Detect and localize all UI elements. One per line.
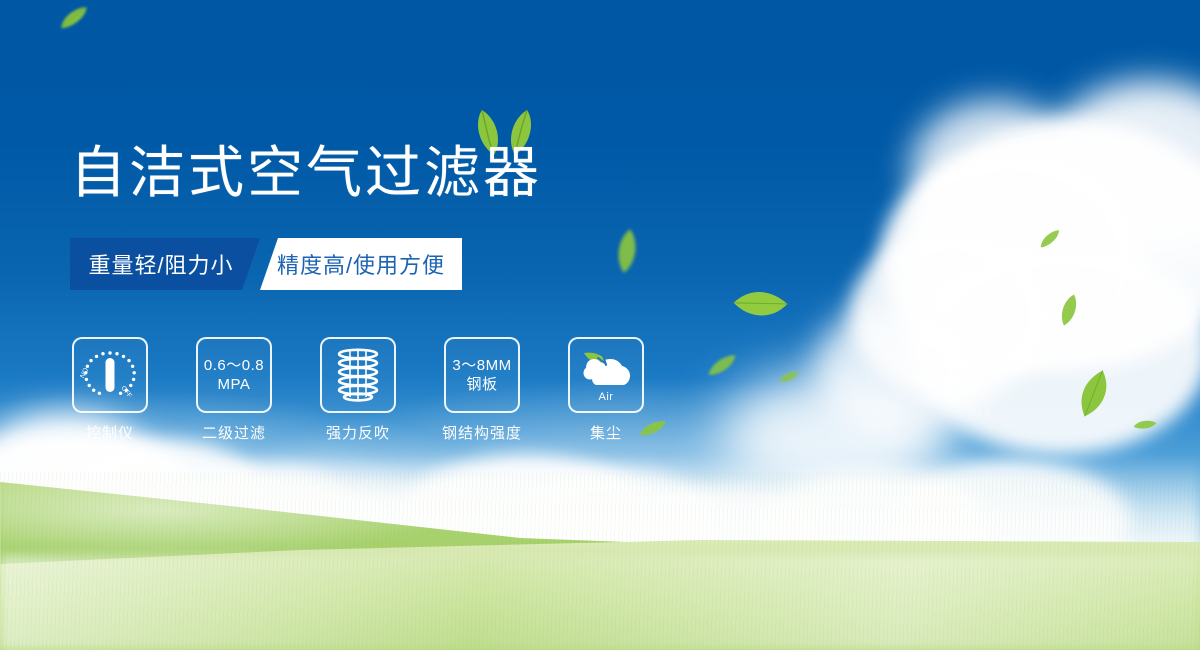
feature-icon-box [320, 337, 396, 413]
feature-icon-box: NO OFF [72, 337, 148, 413]
feature-list: NO OFF 控制仪 0.6～0.8 MPA 二级过滤 [70, 337, 646, 443]
feature-icon-box: 3～8MM 钢板 [444, 337, 520, 413]
feature-item-controller[interactable]: NO OFF 控制仪 [70, 337, 150, 443]
floating-leaf-icon [54, 2, 93, 34]
feature-item-backblow[interactable]: 强力反吹 [318, 337, 398, 443]
air-cloud-icon: Air [576, 349, 636, 401]
feature-item-filtration[interactable]: 0.6～0.8 MPA 二级过滤 [194, 337, 274, 443]
feature-label: 控制仪 [86, 422, 134, 443]
feature-item-dust[interactable]: Air 集尘 [566, 337, 646, 443]
feature-label: 集尘 [590, 422, 622, 443]
feature-icon-box: 0.6～0.8 MPA [196, 337, 272, 413]
hero-banner: 自洁式空气过滤器 重量轻/阻力小 精度高/使用方便 [0, 0, 1200, 650]
feature-item-steel[interactable]: 3～8MM 钢板 钢结构强度 [442, 337, 522, 443]
page-title: 自洁式空气过滤器 [70, 142, 542, 204]
floating-leaf-icon [611, 226, 643, 275]
feature-label: 二级过滤 [202, 422, 266, 443]
subtitle-right-panel: 精度高/使用方便 [260, 238, 462, 290]
steel-plate-icon: 3～8MM 钢板 [452, 356, 511, 394]
gauge-dial-icon: NO OFF [80, 347, 140, 403]
floating-leaf-icon [1132, 417, 1157, 433]
air-label: Air [576, 391, 636, 403]
svg-text:NO: NO [80, 367, 90, 380]
feature-icon-box: Air [568, 337, 644, 413]
feature-label: 强力反吹 [326, 422, 390, 443]
pressure-value-icon: 0.6～0.8 MPA [204, 356, 264, 394]
subtitle-left-panel: 重量轻/阻力小 [70, 238, 260, 290]
floating-leaf-icon [702, 347, 742, 382]
subtitle-bar: 重量轻/阻力小 精度高/使用方便 [70, 238, 462, 290]
floating-leaf-icon [727, 271, 793, 337]
grass-texture [0, 472, 1200, 650]
feature-label: 钢结构强度 [442, 422, 522, 443]
coil-filter-icon [335, 347, 381, 403]
